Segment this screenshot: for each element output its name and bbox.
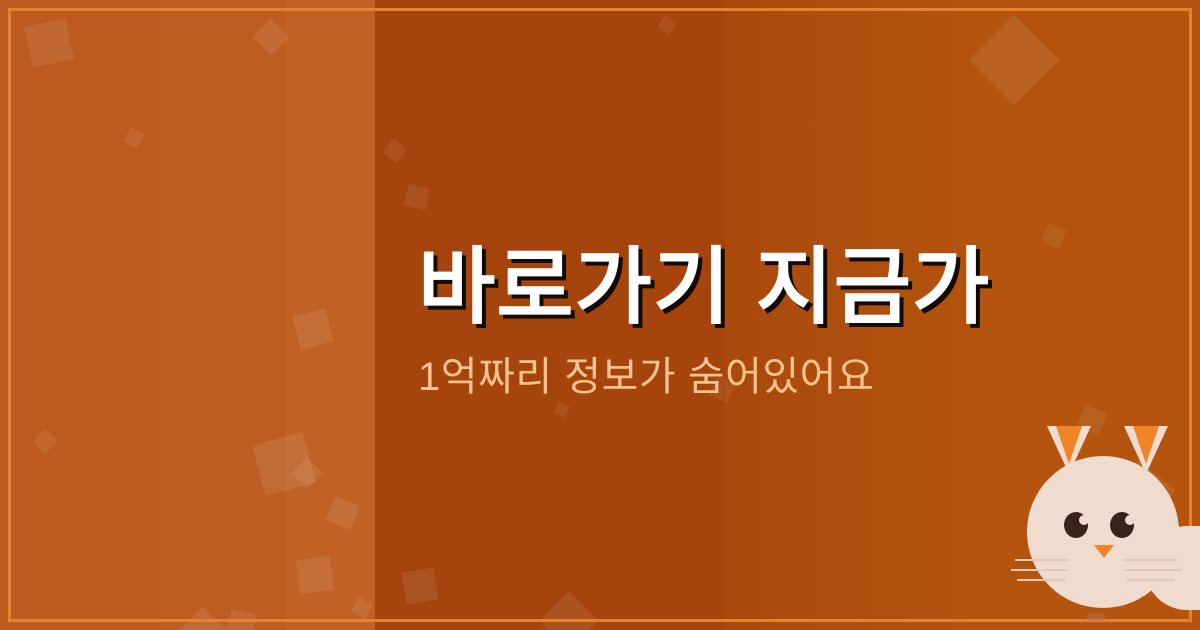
decorative-square <box>296 556 334 594</box>
cat-eye-left-highlight <box>1079 515 1089 525</box>
decorative-square <box>539 591 598 630</box>
page-title: 바로가기 지금가 <box>418 238 1200 337</box>
cat-ear-right-inner-icon <box>1133 426 1159 464</box>
decorative-square <box>24 18 74 68</box>
cat-nose-icon <box>1094 545 1114 558</box>
decorative-square <box>969 15 1060 106</box>
decorative-square <box>351 597 373 619</box>
cat-ear-left-inner-icon <box>1056 426 1082 464</box>
page-subtitle: 1억짜리 정보가 숨어있어요 <box>418 353 1200 401</box>
decorative-square <box>123 127 145 149</box>
cat-whisker-left-2 <box>1011 569 1067 571</box>
decorative-square <box>657 15 676 34</box>
decorative-square <box>253 19 290 56</box>
cat-whisker-right-2 <box>1125 569 1181 571</box>
cat-head <box>1027 456 1179 608</box>
decorative-square <box>326 496 360 530</box>
cat-tail-nub <box>1087 613 1105 623</box>
cat-whisker-left-3 <box>1017 579 1065 581</box>
decorative-square <box>32 428 57 453</box>
decorative-square <box>404 184 430 210</box>
cat-whisker-right-3 <box>1127 579 1175 581</box>
cat-eye-right-highlight <box>1125 515 1135 525</box>
decorative-square <box>225 609 257 630</box>
decorative-square <box>382 138 407 163</box>
headline-block: 바로가기 지금가 1억짜리 정보가 숨어있어요 <box>418 238 1200 401</box>
decorative-square <box>292 308 333 349</box>
cat-whisker-right-1 <box>1123 559 1177 561</box>
promo-card: 바로가기 지금가 1억짜리 정보가 숨어있어요 <box>0 0 1200 630</box>
decorative-square <box>402 568 439 605</box>
decorative-square <box>554 402 569 417</box>
cat-mascot <box>1005 408 1200 630</box>
cat-whisker-left-1 <box>1015 559 1069 561</box>
